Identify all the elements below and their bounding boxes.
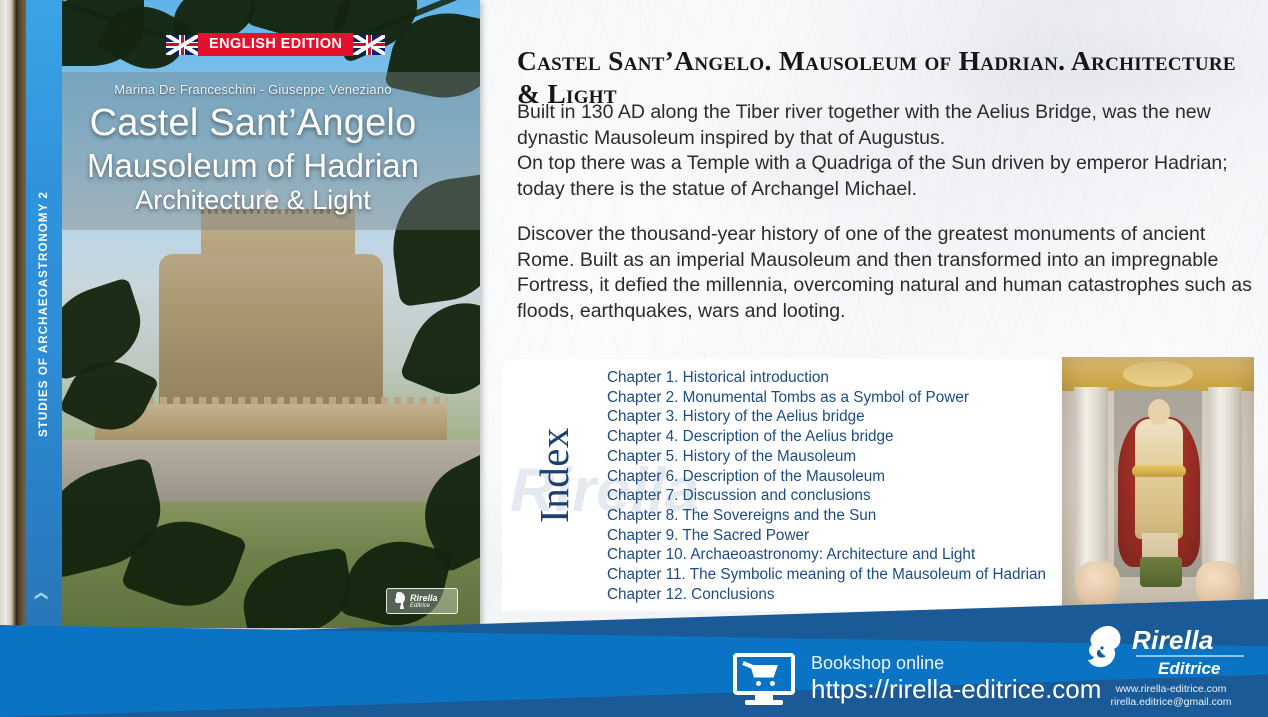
castle-drum	[159, 254, 384, 410]
publisher-subtitle: Editrice	[1158, 660, 1244, 677]
book-spine-label: STUDIES OF ARCHAEOASTRONOMY 2	[38, 191, 50, 437]
cover-title-line-3: Architecture & Light	[26, 185, 480, 215]
list-item[interactable]: Chapter 2. Monumental Tombs as a Symbol …	[607, 388, 1046, 408]
list-item[interactable]: Chapter 8. The Sovereigns and the Sun	[607, 506, 1046, 526]
cover-authors: Marina De Franceschini - Giuseppe Venezi…	[26, 82, 480, 97]
chapter-list: Chapter 1. Historical introduction Chapt…	[607, 368, 1046, 604]
list-item[interactable]: Chapter 10. Archaeoastronomy: Architectu…	[607, 545, 1046, 565]
list-item[interactable]: Chapter 12. Conclusions	[607, 585, 1046, 605]
intro-paragraph: Built in 130 AD along the Tiber river to…	[517, 100, 1257, 202]
description-paragraph: Discover the thousand-year history of on…	[517, 222, 1257, 324]
publisher-underline	[1136, 655, 1244, 657]
list-item[interactable]: Chapter 4. Description of the Aelius bri…	[607, 427, 1046, 447]
spine-chevron-icon: ❯	[32, 591, 48, 602]
castle-ramparts	[95, 404, 446, 439]
publisher-name: Rirella	[1132, 627, 1244, 653]
bookshop-url[interactable]: https://rirella-editrice.com	[811, 674, 1101, 705]
publisher-website[interactable]: www.rirella-editrice.com	[1080, 683, 1262, 696]
list-item[interactable]: Chapter 1. Historical introduction	[607, 368, 1046, 388]
cover-publisher-sub: Editrice	[410, 603, 438, 609]
cover-publisher-logo: Rirella Editrice	[386, 588, 458, 614]
monitor-shopping-cart-icon	[733, 653, 795, 705]
uk-flag-icon-right	[353, 35, 385, 55]
bookshop-block[interactable]: Bookshop online https://rirella-editrice…	[733, 652, 1101, 705]
fresco-vignette	[1062, 357, 1254, 613]
list-item[interactable]: Chapter 7. Discussion and conclusions	[607, 486, 1046, 506]
list-item[interactable]: Chapter 11. The Symbolic meaning of the …	[607, 565, 1046, 585]
index-label: Index	[530, 395, 578, 555]
list-item[interactable]: Chapter 5. History of the Mausoleum	[607, 447, 1046, 467]
cover-publisher-name: Rirella	[410, 594, 438, 603]
bookshop-label: Bookshop online	[811, 652, 1101, 674]
english-edition-badge: ENGLISH EDITION	[166, 33, 385, 56]
book-cover-front: STUDIES OF ARCHAEOASTRONOMY 2 ❯	[26, 0, 480, 628]
book-page-edge-shadow	[16, 0, 26, 628]
slide-root: STUDIES OF ARCHAEOASTRONOMY 2 ❯	[0, 0, 1268, 717]
book-cover: STUDIES OF ARCHAEOASTRONOMY 2 ❯	[0, 0, 480, 640]
list-item[interactable]: Chapter 6. Description of the Mausoleum	[607, 467, 1046, 487]
list-item[interactable]: Chapter 3. History of the Aelius bridge	[607, 407, 1046, 427]
publisher-contacts: www.rirella-editrice.com rirella.editric…	[1080, 683, 1262, 709]
minerva-helmet-icon	[1080, 624, 1126, 680]
english-edition-label: ENGLISH EDITION	[198, 33, 353, 56]
publisher-email[interactable]: rirella.editrice@gmail.com	[1080, 696, 1262, 709]
book-page-edge	[0, 0, 16, 628]
fresco-hadrian-image	[1062, 357, 1254, 613]
cover-title-line-2: Mausoleum of Hadrian	[26, 148, 480, 184]
uk-flag-icon-left	[166, 35, 198, 55]
index-panel: Rirella Index Chapter 1. Historical intr…	[502, 359, 1058, 611]
list-item[interactable]: Chapter 9. The Sacred Power	[607, 526, 1046, 546]
publisher-brand-block: Rirella Editrice www.rirella-editrice.co…	[1080, 624, 1262, 709]
minerva-helmet-icon-small	[391, 591, 407, 611]
cover-title-line-1: Castel Sant’Angelo	[26, 103, 480, 143]
